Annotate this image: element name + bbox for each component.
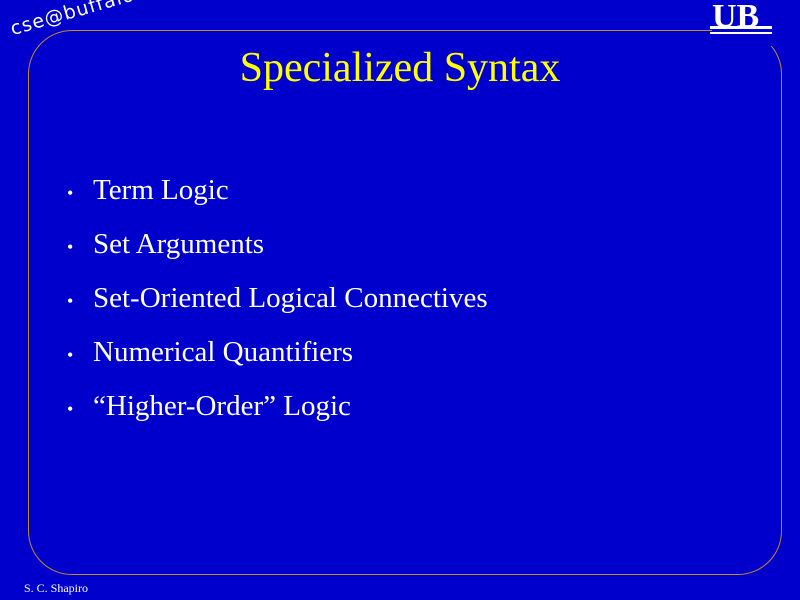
- bullet-marker-icon: •: [55, 168, 93, 219]
- bullet-list: • Term Logic • Set Arguments • Set-Orien…: [55, 165, 755, 435]
- bullet-marker-icon: •: [55, 384, 93, 435]
- bullet-marker-icon: •: [55, 330, 93, 381]
- slide-title: Specialized Syntax: [0, 44, 800, 92]
- ub-logo: UB: [708, 2, 794, 42]
- list-item-label: Set Arguments: [93, 219, 755, 270]
- slide: cse@buffalo UB Specialized Syntax • Term…: [0, 0, 800, 600]
- ub-logo-bar-upper: [710, 26, 772, 29]
- list-item: • Set Arguments: [55, 219, 755, 273]
- bullet-marker-icon: •: [55, 276, 93, 327]
- list-item-label: Numerical Quantifiers: [93, 327, 755, 378]
- list-item-label: Term Logic: [93, 165, 755, 216]
- list-item: • Term Logic: [55, 165, 755, 219]
- ub-logo-bar-lower: [710, 32, 772, 34]
- list-item: • Numerical Quantifiers: [55, 327, 755, 381]
- list-item-label: “Higher-Order” Logic: [93, 381, 755, 432]
- bullet-marker-icon: •: [55, 222, 93, 273]
- slide-footer-author: S. C. Shapiro: [24, 581, 88, 596]
- list-item: • Set-Oriented Logical Connectives: [55, 273, 755, 327]
- list-item-label: Set-Oriented Logical Connectives: [93, 273, 755, 324]
- list-item: • “Higher-Order” Logic: [55, 381, 755, 435]
